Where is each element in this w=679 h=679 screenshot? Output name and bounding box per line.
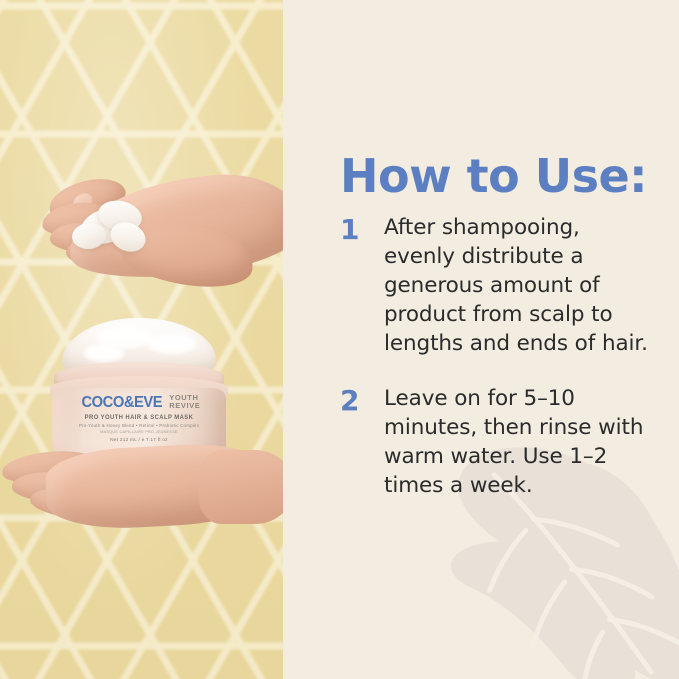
page-title: How to Use: (340, 149, 647, 203)
how-to-use-card: COCO&EVE YOUTH REVIVE PRO YOUTH HAIR & S… (0, 0, 679, 679)
upper-hand-with-cream (28, 175, 283, 310)
cream-dollop (72, 199, 154, 257)
cream-swirl-2 (148, 334, 196, 354)
cream-swirl-3 (84, 344, 124, 362)
product-photo-panel: COCO&EVE YOUTH REVIVE PRO YOUTH HAIR & S… (0, 0, 283, 679)
step-1-number: 1 (340, 213, 384, 245)
jar-descriptor: PRO YOUTH HAIR & SCALP MASK (56, 415, 221, 421)
step-1-text: After shampooing, evenly distribute a ge… (384, 213, 650, 358)
step-2-text: Leave on for 5–10 minutes, then rinse wi… (384, 384, 650, 500)
lower-wrist (198, 450, 283, 524)
jar-product-line-2: REVIVE (169, 402, 200, 410)
instructions-content: How to Use: 1 After shampooing, evenly d… (340, 0, 660, 679)
jar-product-line: YOUTH REVIVE (169, 394, 200, 411)
instructions-panel: How to Use: 1 After shampooing, evenly d… (283, 0, 679, 679)
list-item-step-1: 1 After shampooing, evenly distribute a … (340, 213, 650, 358)
step-2-number: 2 (340, 384, 384, 416)
steps-list: 1 After shampooing, evenly distribute a … (340, 213, 650, 526)
jar-brand-row: COCO&EVE YOUTH REVIVE (52, 394, 226, 411)
jar-brand-name: COCO&EVE (81, 395, 162, 411)
lower-hand-holding-jar (0, 432, 283, 562)
list-item-step-2: 2 Leave on for 5–10 minutes, then rinse … (340, 384, 650, 500)
jar-ingredients: Pro-Youth & Honey Blend • Retinol • Preb… (52, 424, 226, 428)
